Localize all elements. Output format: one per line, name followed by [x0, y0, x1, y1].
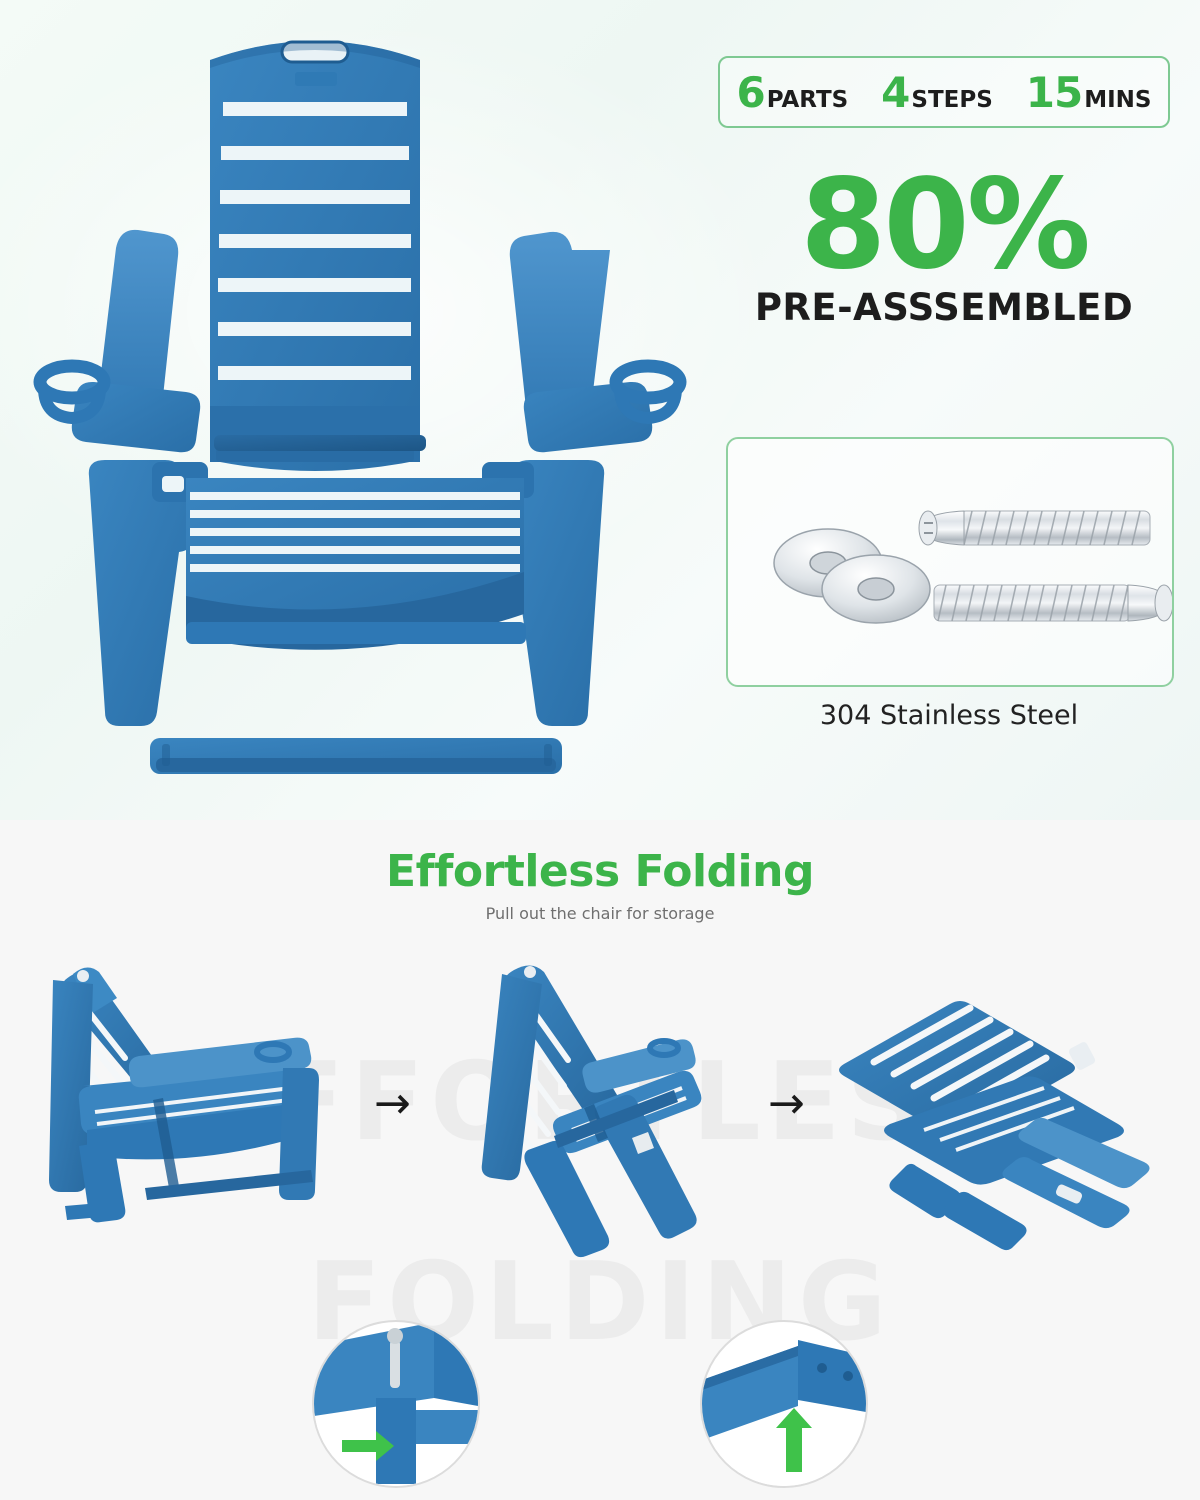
folding-subtitle: Pull out the chair for storage [0, 904, 1200, 923]
badge-steps-unit: STEPS [911, 87, 992, 113]
folding-arrow-2: → [768, 1082, 805, 1126]
badge-mins-unit: MINS [1084, 87, 1151, 113]
folding-section: EFFORTLESS FOLDING Effortless Folding Pu… [0, 820, 1200, 1500]
hardware-illustration [728, 439, 1172, 685]
hardware-card [726, 437, 1174, 687]
badge-mins: 15 MINS [1026, 68, 1152, 117]
badge-mins-number: 15 [1026, 68, 1082, 117]
badge-steps: 4 STEPS [881, 68, 993, 117]
chair-front-bar-part [150, 738, 562, 774]
folding-step-3-chair-folded-flat [820, 990, 1160, 1290]
bolt-icon-lower [934, 585, 1172, 621]
preassembled-percent: 80% [718, 160, 1170, 290]
folding-title: Effortless Folding [0, 846, 1200, 897]
chair-left-armrest-part [40, 230, 200, 452]
folding-step-1-chair-upright [35, 940, 365, 1270]
chair-backrest-part [210, 41, 420, 471]
folding-detail-left [312, 1320, 480, 1488]
latch-detail-left-illustration [314, 1322, 478, 1486]
badge-parts-number: 6 [736, 68, 764, 117]
preassembled-headline: 80% PRE-ASSSEMBLED [718, 160, 1170, 329]
latch-detail-right-illustration [702, 1322, 866, 1486]
chair-seat-part [186, 478, 526, 650]
washer-icon-front [822, 555, 930, 623]
preassembled-subtitle: PRE-ASSSEMBLED [718, 286, 1170, 329]
hardware-caption: 304 Stainless Steel [718, 700, 1180, 731]
badge-parts-unit: PARTS [767, 87, 848, 113]
chair-right-armrest-part [510, 232, 680, 452]
badge-steps-number: 4 [881, 68, 909, 117]
exploded-chair-illustration [10, 10, 710, 810]
folding-arrow-1: → [374, 1082, 411, 1126]
bolt-icon-upper [919, 511, 1150, 545]
spec-badge-bar: 6 PARTS 4 STEPS 15 MINS [718, 56, 1170, 128]
badge-parts: 6 PARTS [736, 68, 848, 117]
top-section: 6 PARTS 4 STEPS 15 MINS 80% PRE-ASSSEMBL… [0, 0, 1200, 820]
folding-step-2-chair-mid-fold [432, 940, 762, 1270]
page-root: 6 PARTS 4 STEPS 15 MINS 80% PRE-ASSSEMBL… [0, 0, 1200, 1500]
folding-detail-right [700, 1320, 868, 1488]
chair-cross-brace-part [214, 435, 426, 451]
